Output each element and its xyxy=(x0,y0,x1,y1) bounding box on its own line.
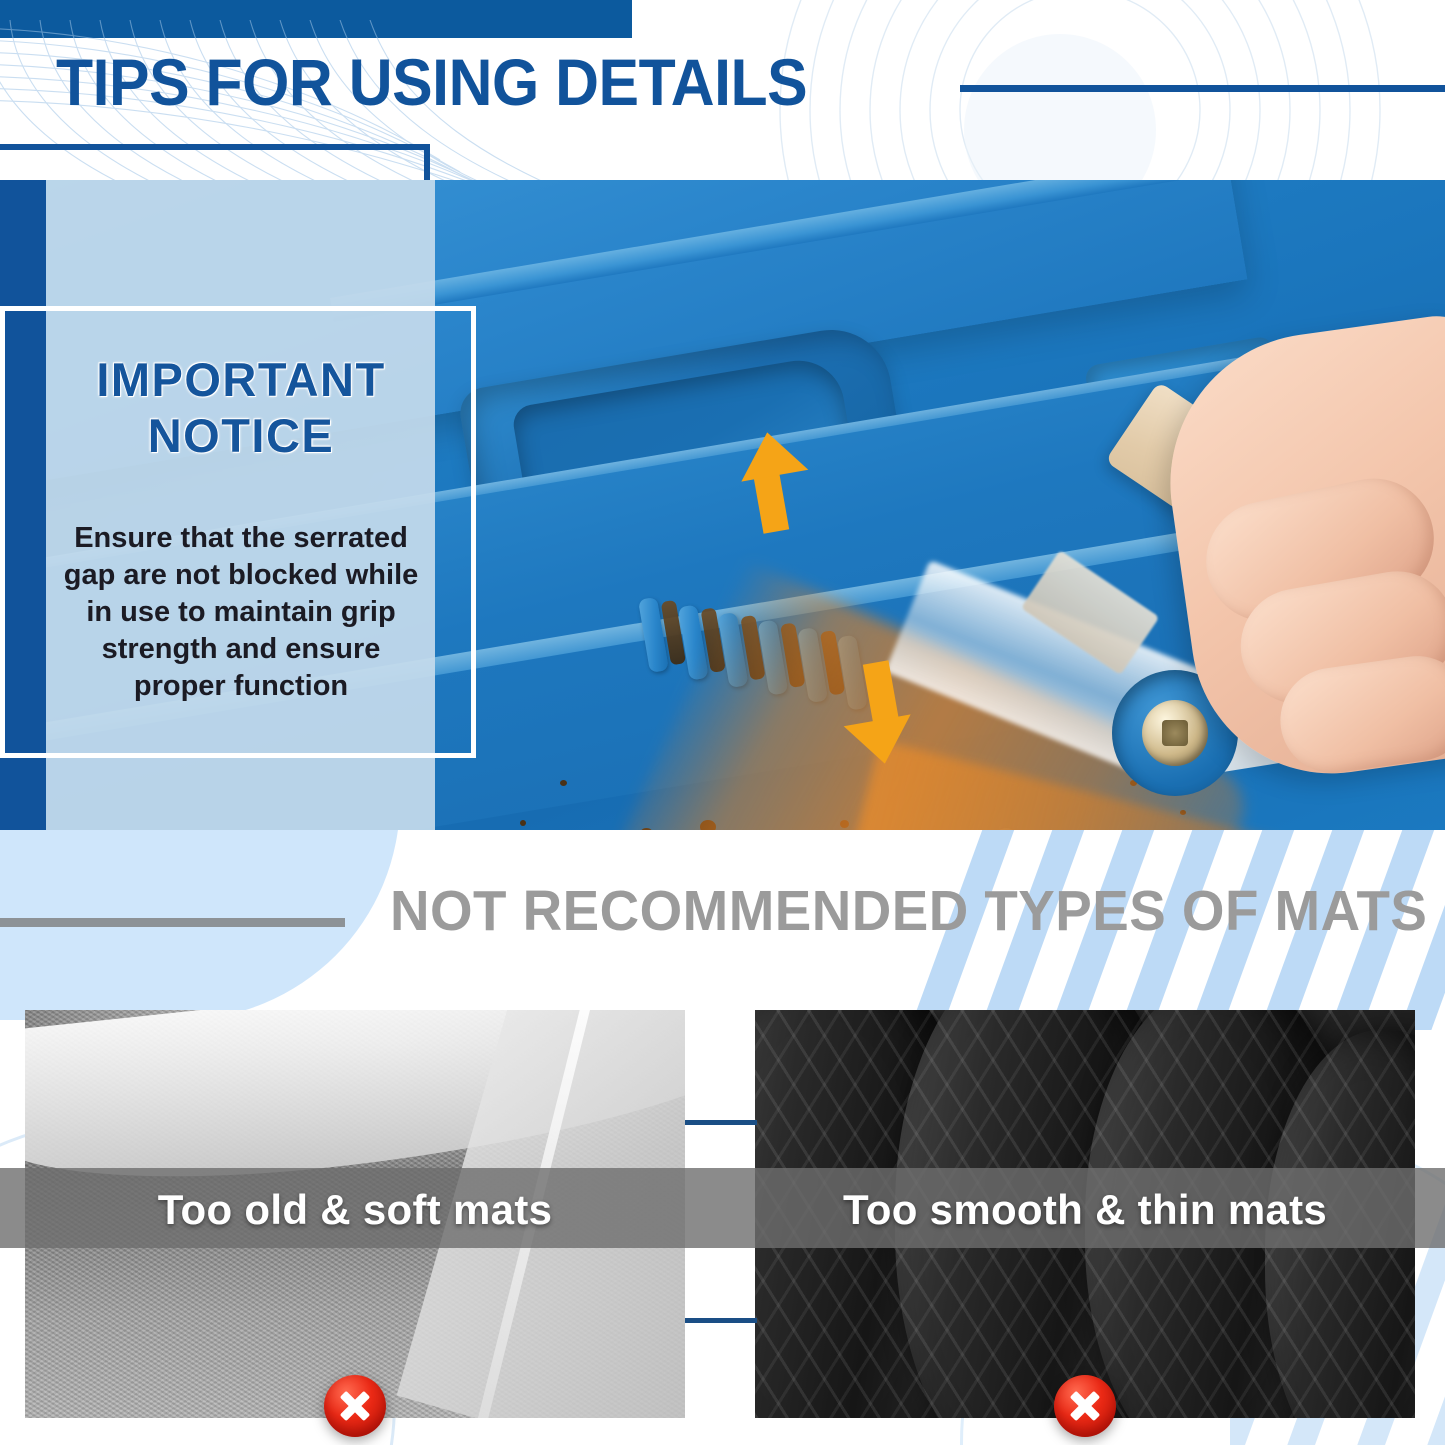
page-title: TIPS FOR USING DETAILS xyxy=(56,44,807,120)
notice-body-text: Ensure that the serrated gap are not blo… xyxy=(52,520,430,705)
section-title-rule xyxy=(0,918,345,927)
notice-heading-line2: NOTICE xyxy=(56,408,426,464)
section-title: NOT RECOMMENDED TYPES OF MATS xyxy=(390,878,1427,944)
connector-line-top xyxy=(685,1120,757,1125)
status-badge-not-recommended-right xyxy=(1054,1375,1116,1437)
header: TIPS FOR USING DETAILS xyxy=(0,0,1445,180)
notice-heading: IMPORTANT NOTICE xyxy=(56,352,426,464)
product-photo-section: IMPORTANT NOTICE Ensure that the serrate… xyxy=(0,180,1445,830)
header-corner-line-vertical xyxy=(424,144,430,180)
header-corner-line xyxy=(0,144,430,150)
rivet-hex-socket xyxy=(1162,720,1188,746)
infographic-page: TIPS FOR USING DETAILS xyxy=(0,0,1445,1445)
not-recommended-section: NOT RECOMMENDED TYPES OF MATS Too old & … xyxy=(0,830,1445,1445)
status-badge-not-recommended-left xyxy=(324,1375,386,1437)
title-rule xyxy=(960,85,1445,92)
caption-left: Too old & soft mats xyxy=(25,1182,685,1238)
connector-line-bottom xyxy=(685,1318,757,1323)
notice-heading-line1: IMPORTANT xyxy=(56,352,426,408)
caption-right: Too smooth & thin mats xyxy=(755,1182,1415,1238)
